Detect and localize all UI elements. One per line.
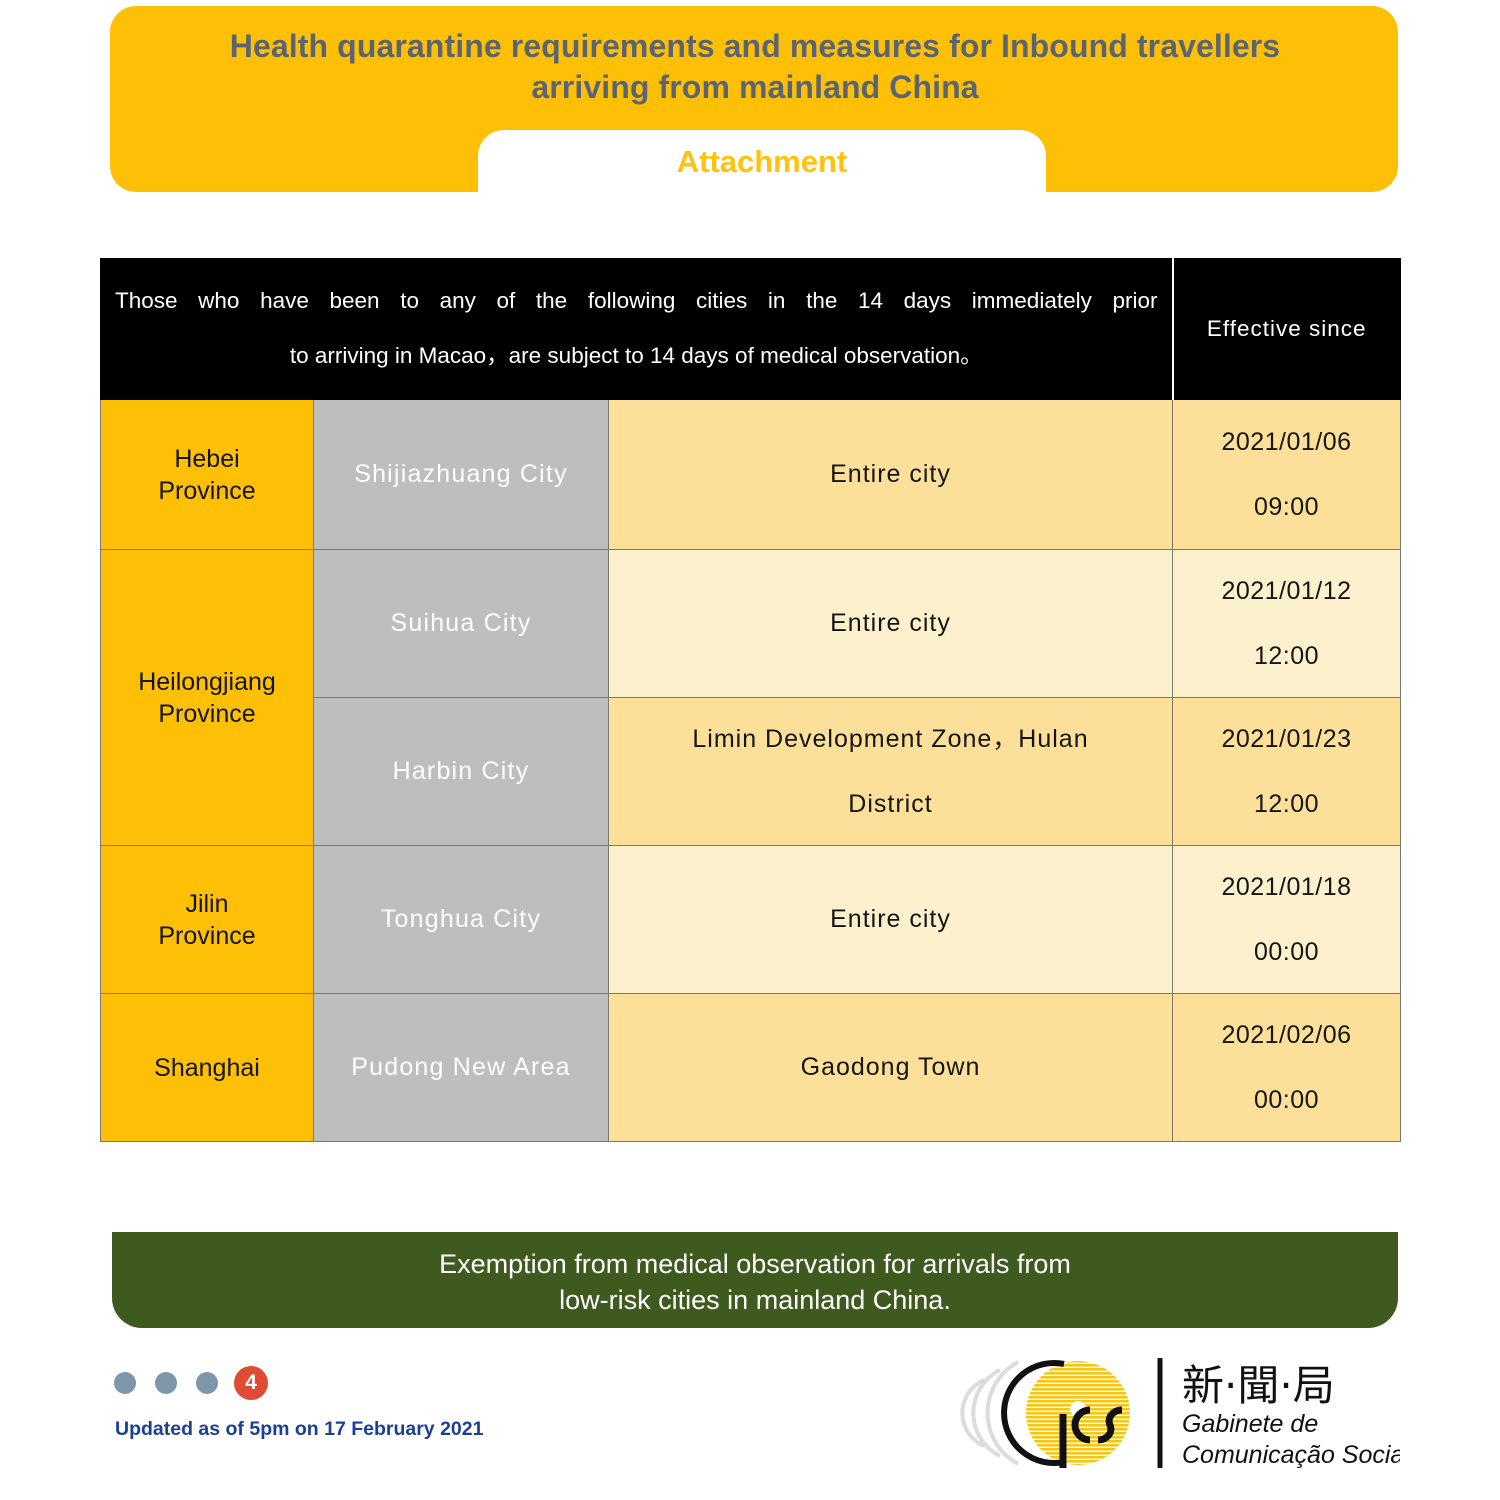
- updated-timestamp: Updated as of 5pm on 17 February 2021: [115, 1418, 483, 1441]
- cell-effective: 2021/01/18 00:00: [1173, 846, 1401, 994]
- page-title-line2: arriving from mainland China: [531, 69, 978, 105]
- cell-city: Suihua City: [314, 550, 609, 698]
- table-header-effective-since: Effective since: [1173, 259, 1401, 400]
- condition-line-2: to arriving in Macao，are subject to 14 d…: [115, 328, 1158, 383]
- cell-city: Pudong New Area: [314, 994, 609, 1142]
- province-line-2: Province: [158, 922, 255, 950]
- effective-time: 12:00: [1173, 624, 1400, 689]
- cell-area: Gaodong Town: [609, 994, 1173, 1142]
- area-line-1: Entire city: [633, 887, 1148, 952]
- infographic-page: Health quarantine requirements and measu…: [0, 0, 1500, 1500]
- condition-line-1: Those who have been to any of the follow…: [115, 273, 1158, 328]
- effective-date: 2021/01/23: [1173, 707, 1400, 772]
- cell-effective: 2021/01/06 09:00: [1173, 400, 1401, 550]
- cell-province: Jilin Province: [101, 846, 314, 994]
- cell-province: Hebei Province: [101, 400, 314, 550]
- gcs-logo: 新·聞·局 Gabinete de Comunicação Social: [960, 1348, 1400, 1478]
- attachment-tab-label: Attachment: [478, 144, 1046, 180]
- exemption-line-1: Exemption from medical observation for a…: [112, 1246, 1398, 1282]
- cell-effective: 2021/01/12 12:00: [1173, 550, 1401, 698]
- page-dot-1[interactable]: [114, 1372, 136, 1394]
- table-row: Jilin Province Tonghua City Entire city …: [101, 846, 1401, 994]
- effective-time: 00:00: [1173, 920, 1400, 985]
- province-line-2: Province: [158, 477, 255, 505]
- quarantine-table-container: Those who have been to any of the follow…: [100, 258, 1400, 1142]
- logo-portuguese-line-1: Gabinete de: [1182, 1410, 1318, 1438]
- page-dot-2[interactable]: [155, 1372, 177, 1394]
- page-dot-active[interactable]: 4: [234, 1366, 268, 1400]
- area-line-1: Entire city: [633, 591, 1148, 656]
- cell-city: Shijiazhuang City: [314, 400, 609, 550]
- exemption-banner: Exemption from medical observation for a…: [112, 1232, 1398, 1328]
- page-title-line1: Health quarantine requirements and measu…: [230, 28, 1280, 64]
- table-header-row: Those who have been to any of the follow…: [101, 259, 1401, 400]
- exemption-line-2: low-risk cities in mainland China.: [112, 1282, 1398, 1318]
- cell-effective: 2021/02/06 00:00: [1173, 994, 1401, 1142]
- cell-province: Shanghai: [101, 994, 314, 1142]
- table-row: Shanghai Pudong New Area Gaodong Town 20…: [101, 994, 1401, 1142]
- table-row: Heilongjiang Province Suihua City Entire…: [101, 550, 1401, 698]
- cell-area: Entire city: [609, 550, 1173, 698]
- province-line-2: Province: [158, 700, 255, 728]
- table-header-condition: Those who have been to any of the follow…: [101, 259, 1173, 400]
- area-line-1: Limin Development Zone，Hulan: [633, 707, 1148, 772]
- cell-area: Entire city: [609, 400, 1173, 550]
- cell-city: Tonghua City: [314, 846, 609, 994]
- area-line-1: Gaodong Town: [633, 1035, 1148, 1100]
- effective-date: 2021/01/12: [1173, 559, 1400, 624]
- logo-portuguese-line-2: Comunicação Social: [1182, 1441, 1400, 1469]
- table-row: Hebei Province Shijiazhuang City Entire …: [101, 400, 1401, 550]
- cell-area: Limin Development Zone，Hulan District: [609, 698, 1173, 846]
- quarantine-table: Those who have been to any of the follow…: [100, 258, 1401, 1142]
- logo-chinese-name: 新·聞·局: [1182, 1361, 1335, 1410]
- effective-date: 2021/02/06: [1173, 1003, 1400, 1068]
- page-dot-3[interactable]: [196, 1372, 218, 1394]
- cell-effective: 2021/01/23 12:00: [1173, 698, 1401, 846]
- effective-time: 12:00: [1173, 772, 1400, 837]
- area-line-1: Entire city: [633, 442, 1148, 507]
- page-title: Health quarantine requirements and measu…: [130, 26, 1380, 108]
- province-line-1: Heilongjiang: [138, 668, 276, 696]
- cell-province: Heilongjiang Province: [101, 550, 314, 846]
- page-dots: 4: [114, 1366, 268, 1400]
- cell-city: Harbin City: [314, 698, 609, 846]
- area-line-2: District: [633, 772, 1148, 837]
- wave-arcs-icon: [962, 1362, 1018, 1464]
- attachment-tab: Attachment: [478, 130, 1046, 200]
- province-line-1: Hebei: [174, 445, 239, 473]
- province-line-1: Jilin: [185, 890, 228, 918]
- effective-time: 00:00: [1173, 1068, 1400, 1133]
- effective-date: 2021/01/18: [1173, 855, 1400, 920]
- effective-date: 2021/01/06: [1173, 410, 1400, 475]
- effective-time: 09:00: [1173, 475, 1400, 540]
- gcs-logo-svg: 新·聞·局 Gabinete de Comunicação Social: [960, 1348, 1400, 1478]
- cell-area: Entire city: [609, 846, 1173, 994]
